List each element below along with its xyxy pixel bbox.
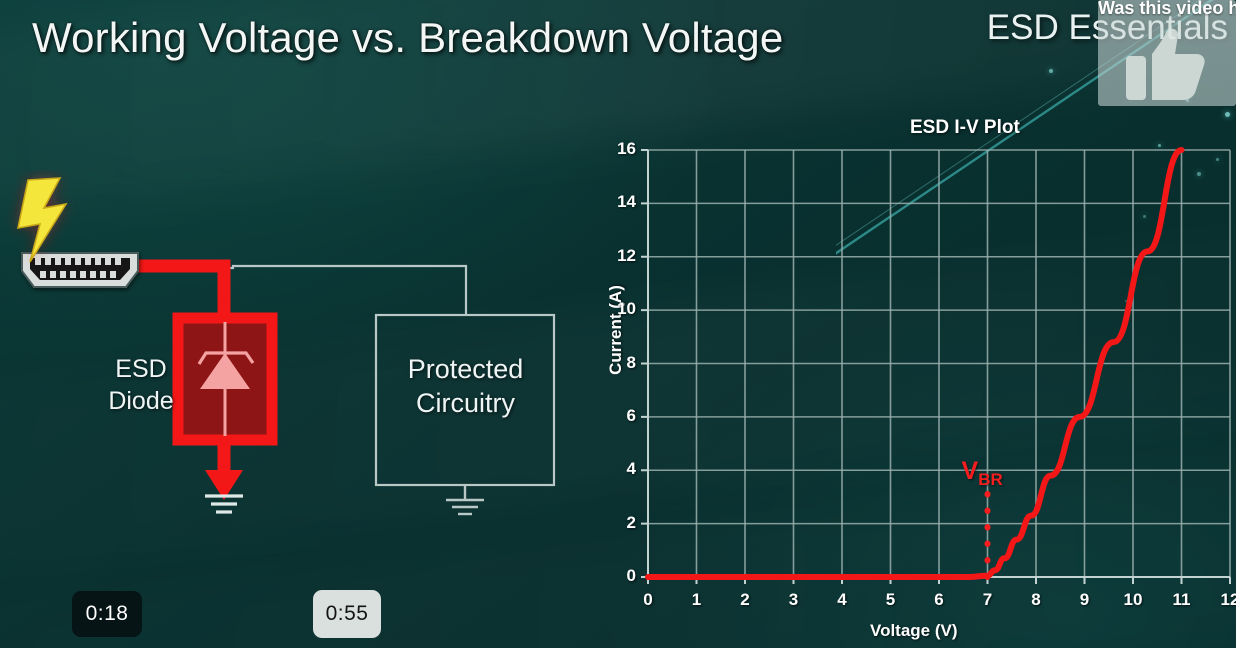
esd-ground-path [205,438,243,500]
breakdown-voltage-symbol: V [962,457,979,485]
esd-diode-label-line2: Diode [86,385,196,417]
protected-ground-symbol [446,485,484,514]
background-spark [1049,69,1053,73]
circuit-diagram: ESD Diode Protected Circuitry [0,170,600,570]
duration-badge[interactable]: 0:55 [313,590,381,638]
lightning-bolt-icon [18,178,66,262]
hdmi-connector [22,253,138,287]
signal-wire [140,266,466,315]
slide-canvas: Working Voltage vs. Breakdown Voltage ES… [0,0,1236,648]
iv-plot: ESD I-V Plot Current (A) Voltage (V) 024… [580,105,1236,648]
grid-lines [648,150,1230,577]
protected-label-line2: Circuitry [378,386,553,420]
elapsed-time-badge[interactable]: 0:18 [72,591,142,637]
breakdown-voltage-subscript: BR [978,470,1003,489]
esd-diode-label: ESD Diode [86,353,196,417]
protected-label-line1: Protected [378,352,553,386]
video-survey-overlay[interactable]: Was this video helpful? [1098,0,1236,106]
esd-diode-label-line1: ESD [86,353,196,385]
thumbs-up-icon[interactable] [1118,28,1210,102]
survey-prompt: Was this video helpful? [1098,0,1236,19]
protected-circuitry-label: Protected Circuitry [378,352,553,420]
page-title: Working Voltage vs. Breakdown Voltage [32,14,783,62]
esd-current-trace [132,266,224,320]
breakdown-voltage-label: VBR [962,459,1003,488]
tick-marks [641,150,1230,584]
plot-area [580,105,1236,648]
